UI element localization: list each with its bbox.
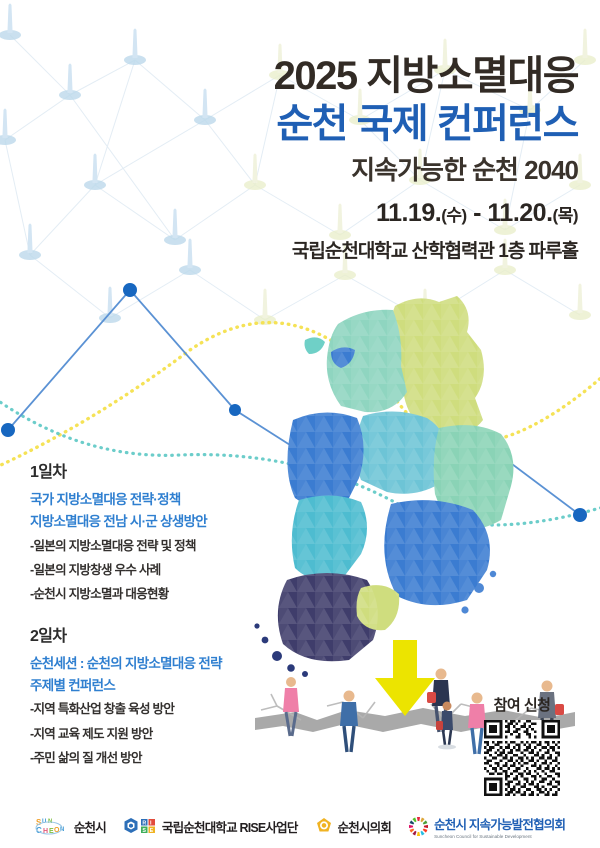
logo-label: 순천시: [74, 817, 106, 836]
svg-text:R: R: [142, 820, 146, 826]
logo-label: 순천시 지속가능발전협의회 Suncheon Council for Susta…: [434, 814, 565, 839]
svg-text:E: E: [150, 828, 154, 834]
sponsor-logo-bar: S U N C H E O N 순천시 R I: [0, 804, 600, 848]
svg-text:S: S: [142, 828, 146, 834]
yellow-arrow-icon: [375, 640, 435, 716]
program-schedule: 1일차 국가 지방소멸대응 전략·정책 지방소멸대응 전남 시·군 상생방안 -…: [30, 458, 280, 785]
korea-map-graphic: [243, 288, 553, 688]
logo-suncheon-sustainable: 순천시 지속가능발전협의회 Suncheon Council for Susta…: [408, 814, 565, 839]
logo-suncheon-city: S U N C H E O N 순천시: [35, 815, 106, 837]
conference-poster: 2025 지방소멸대응 순천 국제 컨퍼런스 지속가능한 순천 2040 11.…: [0, 0, 600, 848]
program-day-1: 1일차 국가 지방소멸대응 전략·정책 지방소멸대응 전남 시·군 상생방안 -…: [30, 458, 280, 607]
date-start-day: (수): [441, 206, 466, 225]
city-council-emblem-icon: [315, 817, 333, 835]
title-line-conference: 순천 국제 컨퍼런스: [118, 102, 578, 147]
day-2-session: 순천세션 : 순천의 지방소멸대응 전략: [30, 653, 280, 675]
logo-label-main: 순천시 지속가능발전협의회: [434, 818, 565, 832]
person-figure: [340, 691, 358, 753]
registration-qr-block[interactable]: 참여 신청: [462, 694, 582, 796]
day-1-session: 국가 지방소멸대응 전략·정책: [30, 489, 280, 511]
day-2-label: 2일차: [30, 622, 280, 646]
logo-suncheon-council: 순천시의회: [315, 817, 392, 836]
day-1-item: -순천시 지방소멸과 대응현황: [30, 582, 280, 606]
program-day-2: 2일차 순천세션 : 순천의 지방소멸대응 전략 주제별 컨퍼런스 -지역 특화…: [30, 622, 280, 771]
person-figure-icon: [434, 698, 460, 750]
suncheon-city-emblem-icon: S U N C H E O N: [35, 815, 69, 837]
date-separator: -: [473, 199, 481, 227]
logo-label: 순천시의회: [338, 817, 392, 836]
day-1-label: 1일차: [30, 458, 280, 482]
day-2-item: -주민 삶의 질 개선 방안: [30, 746, 280, 770]
day-1-session: 지방소멸대응 전남 시·군 상생방안: [30, 511, 280, 533]
rise-emblem-icon: R I S E: [123, 817, 157, 835]
date-start: 11.19.: [376, 199, 441, 227]
title-line-main: 2025 지방소멸대응: [118, 55, 578, 98]
logo-scnu-rise: R I S E 국립순천대학교 RISE사업단: [123, 817, 298, 836]
poster-headline: 2025 지방소멸대응 순천 국제 컨퍼런스 지속가능한 순천 2040 11.…: [118, 55, 578, 263]
sdg-wheel-icon: [408, 816, 429, 837]
logo-label: 국립순천대학교 RISE사업단: [162, 817, 298, 836]
qr-label: 참여 신청: [462, 694, 582, 715]
day-1-item: -일본의 지방소멸대응 전략 및 정책: [30, 534, 280, 558]
event-date: 11.19.(수) - 11.20.(목): [118, 199, 578, 228]
poster-subtitle: 지속가능한 순천 2040: [118, 156, 578, 186]
day-2-session: 주제별 컨퍼런스: [30, 675, 280, 697]
person-figure: [283, 677, 299, 736]
date-end: 11.20.: [487, 199, 552, 227]
day-2-item: -지역 특화산업 창출 육성 방안: [30, 697, 280, 721]
logo-label-sub: Suncheon Council for Sustainable Develop…: [434, 834, 565, 839]
day-2-item: -지역 교육 제도 지원 방안: [30, 722, 280, 746]
event-venue: 국립순천대학교 산학협력관 1층 파루홀: [118, 236, 578, 263]
day-1-item: -일본의 지방창생 우수 사례: [30, 558, 280, 582]
date-end-day: (목): [553, 206, 578, 225]
qr-code[interactable]: [484, 720, 560, 796]
